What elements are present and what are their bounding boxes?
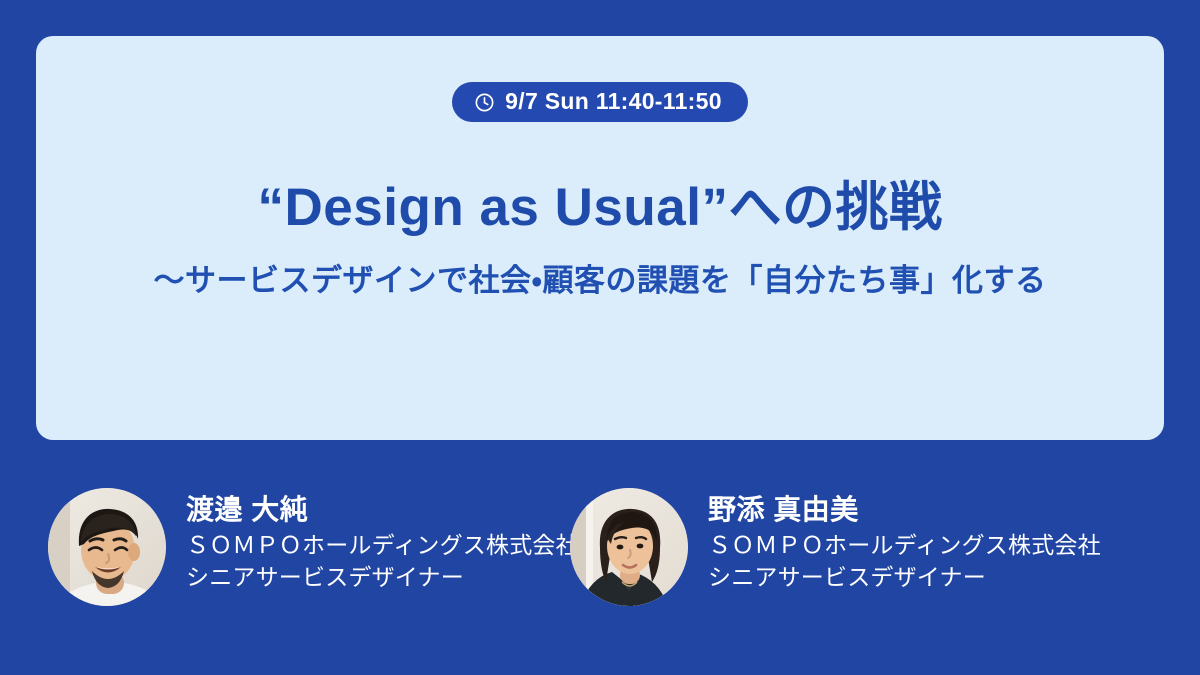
speaker-info: 渡邉 大純 ＳＯＭＰＯホールディングス株式会社 シニアサービスデザイナー [186,478,579,592]
woman-portrait-image [570,488,688,606]
headline-card: 9/7 Sun 11:40-11:50 “Design as Usual”への挑… [36,36,1164,440]
speaker-info: 野添 真由美 ＳＯＭＰＯホールディングス株式会社 シニアサービスデザイナー [708,478,1101,592]
clock-icon [474,92,495,113]
speaker-organization: ＳＯＭＰＯホールディングス株式会社 [186,530,579,561]
speaker-role: シニアサービスデザイナー [186,562,579,593]
session-time-badge: 9/7 Sun 11:40-11:50 [452,82,748,122]
session-subtitle: 〜サービスデザインで社会・顧客の課題を「自分たち事」化する [60,261,1140,301]
session-time-text: 9/7 Sun 11:40-11:50 [505,90,722,113]
speaker-name: 渡邉 大純 [186,494,579,526]
session-title: “Design as Usual”への挑戦 [60,178,1140,239]
title-block: “Design as Usual”への挑戦 〜サービスデザインで社会・顧客の課題… [36,178,1164,301]
speaker-name: 野添 真由美 [708,494,1101,526]
speaker-role: シニアサービスデザイナー [708,562,1101,593]
man-portrait-image [48,488,166,606]
avatar [570,488,688,606]
speaker-list: 渡邉 大純 ＳＯＭＰＯホールディングス株式会社 シニアサービスデザイナー [0,478,1200,618]
avatar [48,488,166,606]
speaker-card-1: 渡邉 大純 ＳＯＭＰＯホールディングス株式会社 シニアサービスデザイナー [0,478,570,618]
speaker-card-2: 野添 真由美 ＳＯＭＰＯホールディングス株式会社 シニアサービスデザイナー [570,478,1140,618]
speaker-organization: ＳＯＭＰＯホールディングス株式会社 [708,530,1101,561]
presentation-slide: 9/7 Sun 11:40-11:50 “Design as Usual”への挑… [0,0,1200,675]
